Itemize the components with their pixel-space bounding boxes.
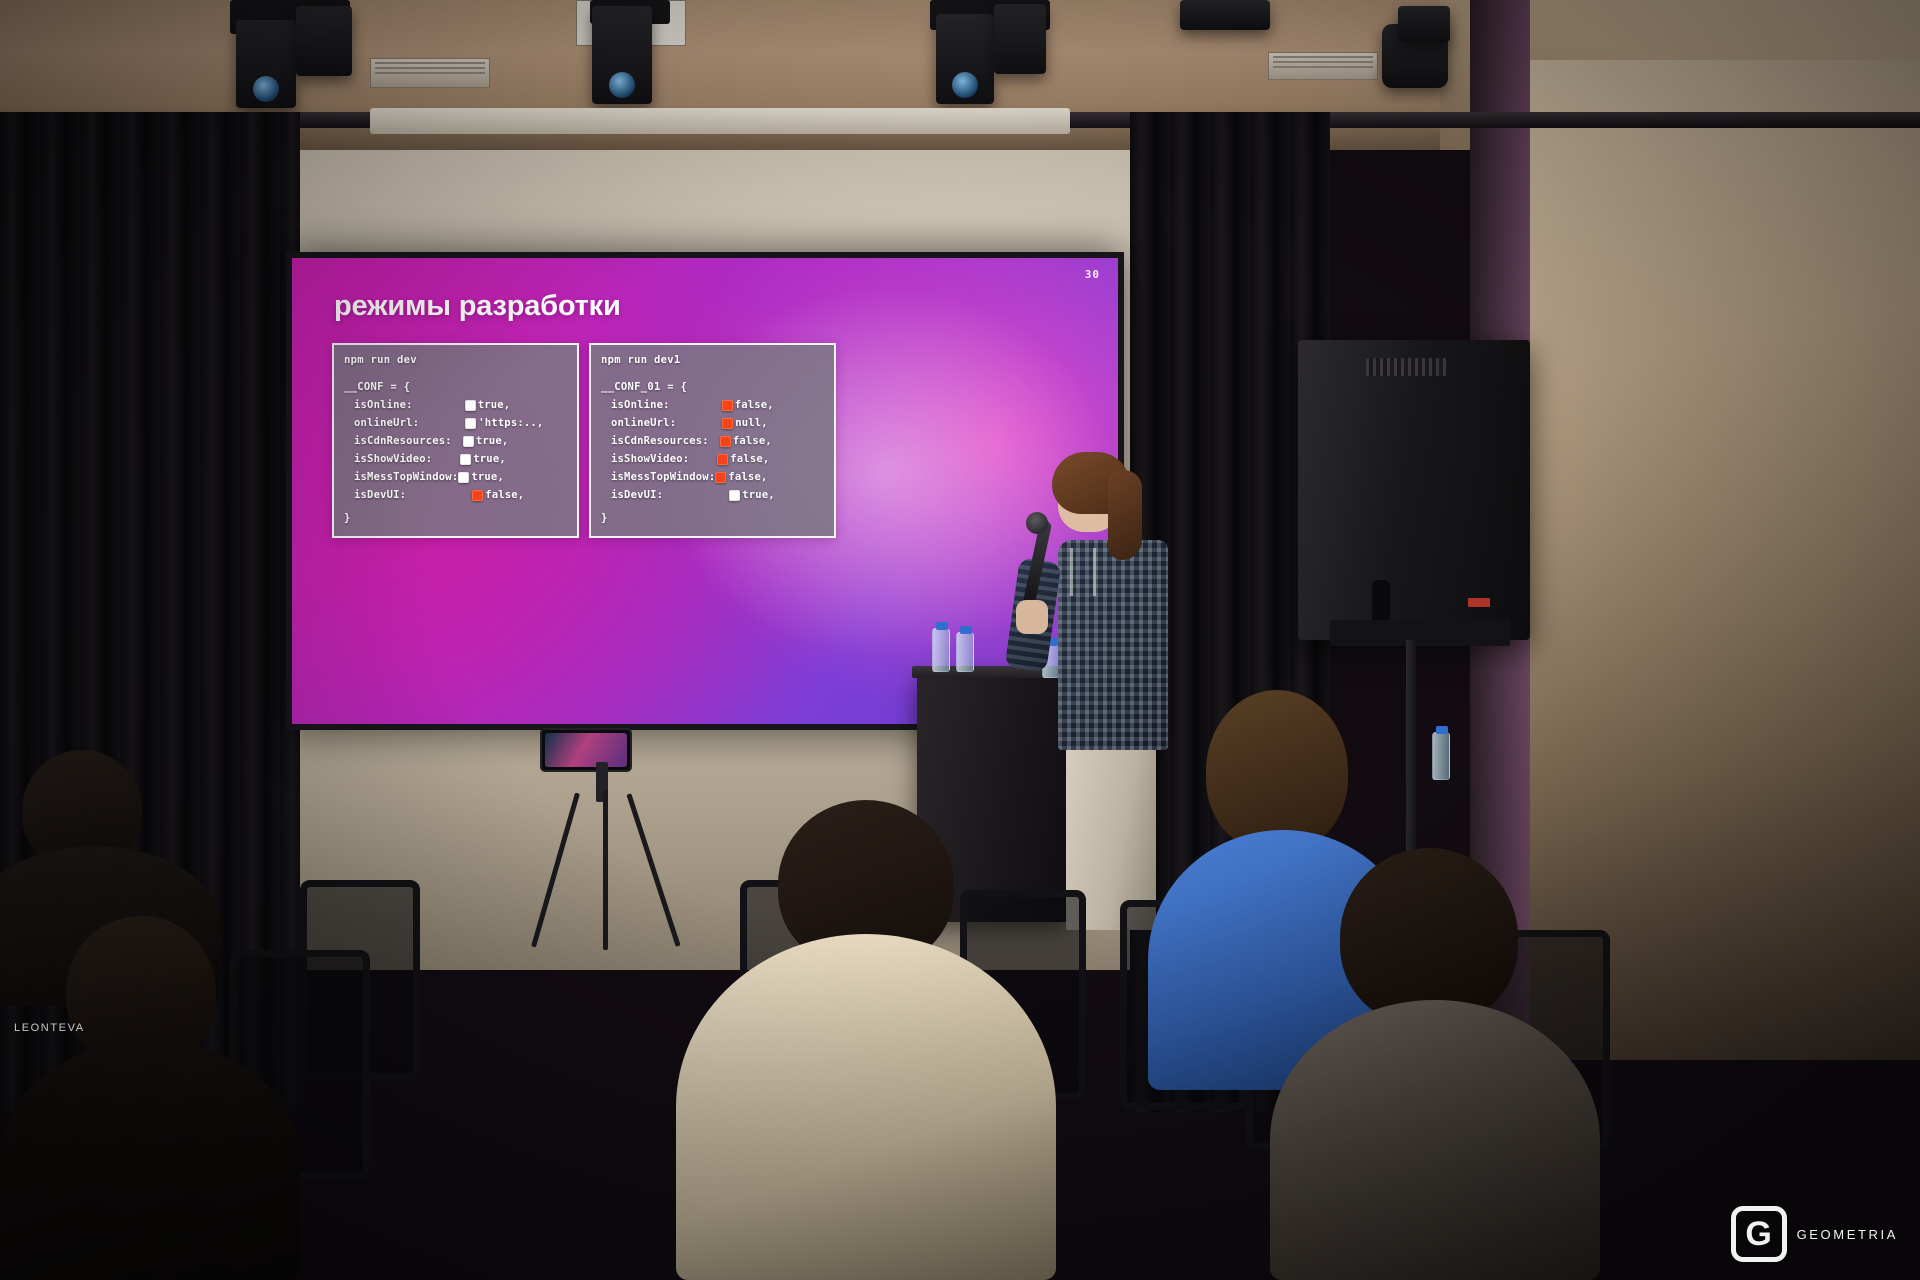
pa-speaker-bracket	[1330, 620, 1510, 646]
config-row: onlineUrl: 'https:..,	[344, 418, 567, 429]
checkbox-icon	[460, 454, 471, 465]
stage-light-4	[1180, 0, 1270, 30]
config-key: isDevUI:	[611, 490, 663, 501]
water-bottle	[956, 632, 974, 672]
stage-light-2	[592, 6, 652, 104]
presentation-slide: 30 режимы разработки npm run dev __CONF …	[292, 258, 1118, 724]
config-row: isOnline: true,	[344, 400, 567, 411]
audience-shoulders	[0, 1040, 300, 1280]
code-panel-dev1: npm run dev1 __CONF_01 = { isOnline: fal…	[589, 343, 836, 538]
config-row: isCdnResources: false,	[601, 436, 824, 447]
water-bottle	[932, 628, 950, 672]
stage-light-3b	[994, 4, 1046, 74]
brand-watermark-text: GEOMETRIA	[1797, 1227, 1898, 1242]
config-value: false,	[735, 400, 774, 411]
checkbox-icon	[458, 472, 469, 483]
code-panel-dev: npm run dev __CONF = { isOnline: true, o…	[332, 343, 579, 538]
config-key: isOnline:	[354, 400, 413, 411]
slide-title: режимы разработки	[334, 290, 621, 323]
audience-shoulders	[1270, 1000, 1600, 1280]
config-value: true,	[476, 436, 509, 447]
checkbox-icon	[465, 400, 476, 411]
stage-light-1b	[296, 6, 352, 76]
config-row: isMessTopWindow: false,	[601, 472, 824, 483]
checkbox-icon	[717, 454, 728, 465]
checkbox-icon	[722, 400, 733, 411]
right-wall	[1480, 60, 1920, 1060]
config-value: true,	[478, 400, 511, 411]
config-key: isCdnResources:	[354, 436, 452, 447]
presenter-hand	[1016, 600, 1048, 634]
geometria-logo-icon: G	[1731, 1206, 1787, 1262]
checkbox-icon	[465, 418, 476, 429]
stage-light-5-body	[1398, 6, 1450, 42]
config-row: isMessTopWindow: true,	[344, 472, 567, 483]
code-panels: npm run dev __CONF = { isOnline: true, o…	[332, 343, 836, 538]
config-row: isDevUI: true,	[601, 490, 824, 501]
config-row: isShowVideo: true,	[344, 454, 567, 465]
config-row: isOnline: false,	[601, 400, 824, 411]
panel-object-open: __CONF_01 = {	[601, 382, 824, 393]
microphone-head	[1026, 512, 1048, 534]
config-key: onlineUrl:	[354, 418, 419, 429]
panel-object-close: }	[344, 513, 567, 524]
config-key: isMessTopWindow:	[611, 472, 715, 483]
panel-object-close: }	[601, 513, 824, 524]
screen-valance	[370, 108, 1070, 134]
stage-light-3	[936, 14, 994, 104]
ceiling-vent-right	[1268, 52, 1378, 80]
slide-number: 30	[1085, 268, 1100, 281]
panel-object-open: __CONF = {	[344, 382, 567, 393]
config-row: isShowVideo: false,	[601, 454, 824, 465]
config-key: isDevUI:	[354, 490, 406, 501]
ceiling-vent-left	[370, 58, 490, 88]
config-key: isMessTopWindow:	[354, 472, 458, 483]
pa-speaker	[1298, 340, 1530, 640]
config-value: 'https:..,	[478, 418, 550, 429]
config-key: isCdnResources:	[611, 436, 709, 447]
config-value: true,	[473, 454, 506, 465]
pa-speaker-grill	[1366, 358, 1446, 376]
water-bottle	[1432, 732, 1450, 780]
pa-speaker-badge	[1468, 598, 1490, 607]
config-value: false,	[733, 436, 772, 447]
checkbox-icon	[472, 490, 483, 501]
config-value: false,	[728, 472, 767, 483]
config-key: isShowVideo:	[354, 454, 432, 465]
panel-command: npm run dev	[344, 355, 567, 366]
presenter-lanyard	[1070, 548, 1096, 596]
projection-screen-frame: 30 режимы разработки npm run dev __CONF …	[286, 252, 1124, 730]
config-key: onlineUrl:	[611, 418, 676, 429]
checkbox-icon	[729, 490, 740, 501]
config-key: isOnline:	[611, 400, 670, 411]
config-value: null,	[735, 418, 768, 429]
config-value: false,	[730, 454, 769, 465]
checkbox-icon	[715, 472, 726, 483]
checkbox-icon	[722, 418, 733, 429]
config-row: isCdnResources: true,	[344, 436, 567, 447]
audience-head	[1206, 690, 1348, 852]
config-value: true,	[742, 490, 775, 501]
config-row: onlineUrl: null,	[601, 418, 824, 429]
config-key: isShowVideo:	[611, 454, 689, 465]
panel-command: npm run dev1	[601, 355, 824, 366]
presenter-hair-back	[1108, 470, 1142, 560]
brand-watermark: G GEOMETRIA	[1731, 1206, 1898, 1262]
checkbox-icon	[720, 436, 731, 447]
tripod-legs	[545, 790, 665, 950]
smartphone-camera	[540, 728, 632, 772]
config-value: false,	[485, 490, 524, 501]
config-value: true,	[471, 472, 504, 483]
audience-shoulders	[676, 934, 1056, 1280]
conference-photo: 30 режимы разработки npm run dev __CONF …	[0, 0, 1920, 1280]
photographer-watermark: LEONTEVA	[14, 1022, 85, 1034]
stage-light-1	[236, 20, 296, 108]
pa-speaker-stand	[1406, 640, 1416, 880]
config-row: isDevUI: false,	[344, 490, 567, 501]
checkbox-icon	[463, 436, 474, 447]
